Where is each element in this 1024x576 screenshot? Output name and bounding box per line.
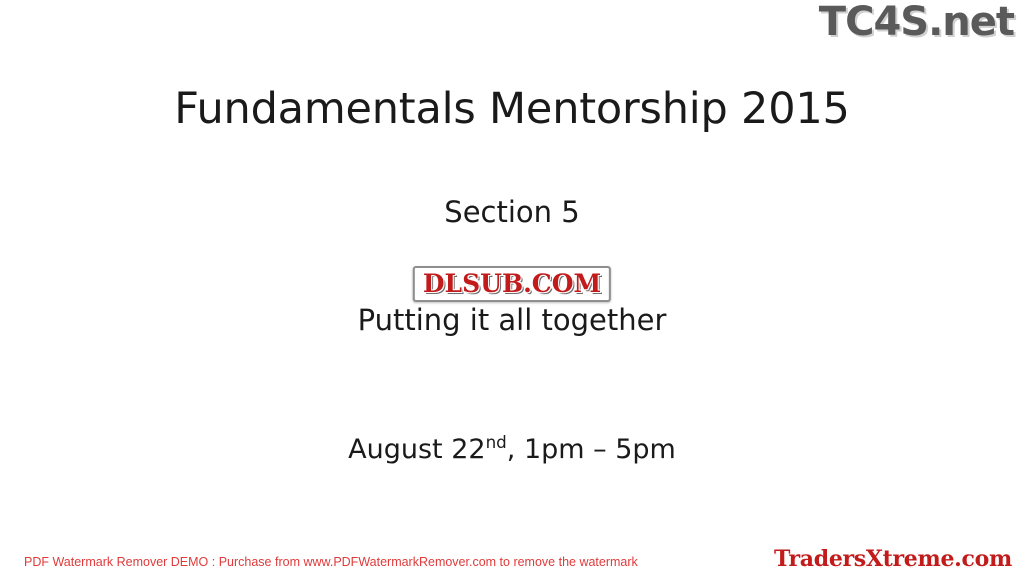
slide-tagline: Putting it all together bbox=[0, 303, 1024, 337]
slide-section-label: Section 5 bbox=[0, 195, 1024, 229]
datetime-ordinal-suffix: nd bbox=[486, 432, 507, 452]
tc4s-watermark: TC4S.net bbox=[819, 2, 1014, 42]
slide-canvas: TC4S.net Fundamentals Mentorship 2015 Se… bbox=[0, 0, 1024, 576]
dlsub-stamp-text: DLSUB.COM bbox=[423, 269, 601, 298]
datetime-date: August 22 bbox=[348, 434, 485, 465]
dlsub-stamp-watermark: DLSUB.COM bbox=[413, 266, 611, 302]
slide-title: Fundamentals Mentorship 2015 bbox=[0, 84, 1024, 134]
tradersxtreme-logo: TradersXtreme.com bbox=[774, 546, 1012, 572]
datetime-time-range: , 1pm – 5pm bbox=[507, 434, 676, 465]
pdf-watermark-notice: PDF Watermark Remover DEMO : Purchase fr… bbox=[24, 555, 638, 569]
slide-datetime: August 22nd, 1pm – 5pm bbox=[0, 432, 1024, 465]
